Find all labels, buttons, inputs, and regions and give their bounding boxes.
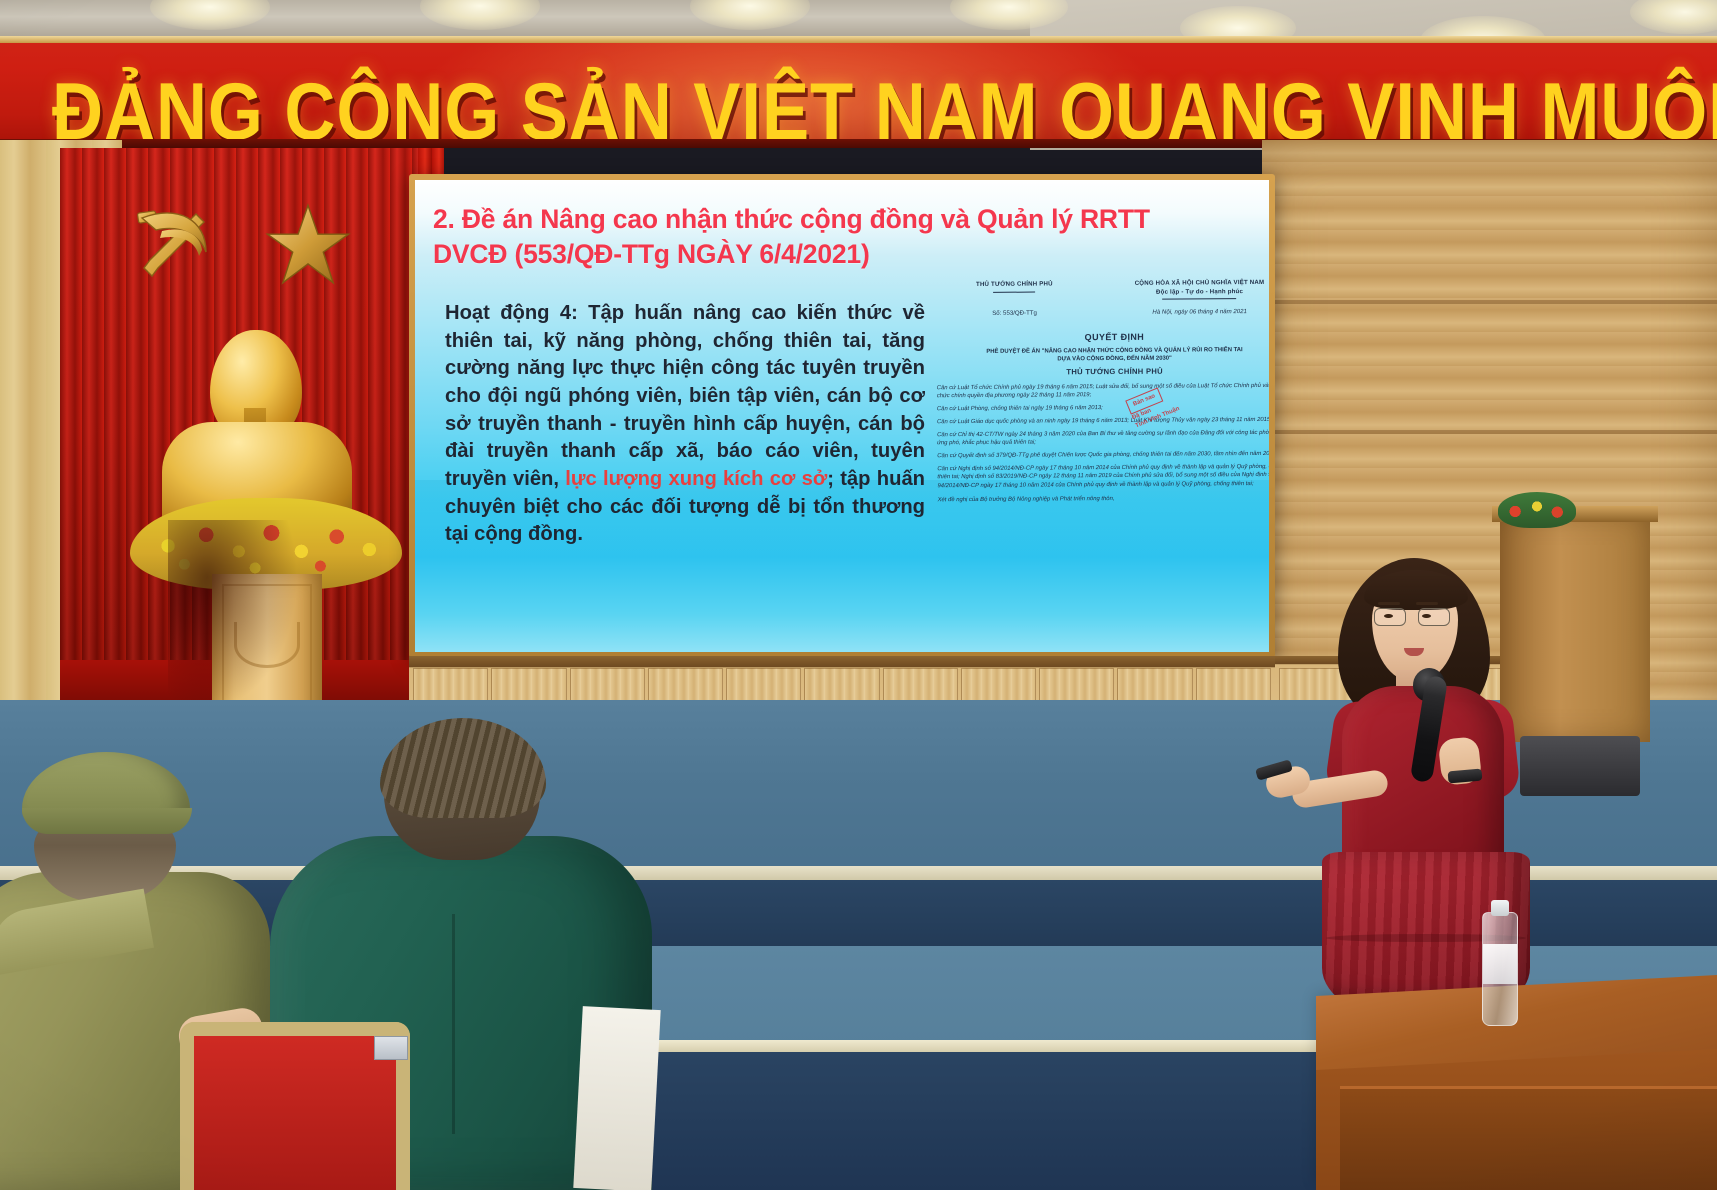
doc-header-row: THỦ TƯỚNG CHÍNH PHỦ CỘNG HÒA XÃ HỘI CHỦ … — [936, 279, 1269, 304]
presenter-brow-right — [1416, 602, 1438, 605]
slide-body-text: Hoạt động 4: Tập huấn nâng cao kiến thức… — [445, 300, 925, 549]
doc-basis-3: Căn cứ Luật Giáo dục quốc phòng và an ni… — [937, 416, 1269, 427]
slide-title: 2. Đề án Nâng cao nhận thức cộng đồng và… — [433, 202, 1269, 272]
conference-hall-photo: ĐẢNG CỘNG SẢN VIỆT NAM QUANG VINH MUÔN N… — [0, 0, 1717, 1190]
doc-number: Số: 553/QĐ-TTg — [936, 309, 1093, 319]
military-cap-band — [22, 808, 192, 834]
doc-national-rule — [1163, 298, 1237, 300]
audience-2-jacket-seam — [452, 914, 455, 1134]
doc-authority: THỦ TƯỚNG CHÍNH PHỦ — [937, 366, 1269, 379]
doc-basis-6: Căn cứ Nghị định số 94/2014/NĐ-CP ngày 1… — [937, 463, 1269, 491]
doc-type-heading: QUYẾT ĐỊNH — [936, 330, 1269, 345]
banner-gold-trim — [0, 36, 1717, 43]
slide-canvas: 2. Đề án Nâng cao nhận thức cộng đồng và… — [415, 180, 1269, 652]
doc-place-date: Hà Nội, ngày 06 tháng 4 năm 2021 — [1107, 308, 1269, 318]
lectern-flower-arrangement — [1498, 492, 1576, 528]
wall-seam-2 — [1262, 430, 1717, 434]
slide-title-line-2: DVCĐ (553/QĐ-TTg NGÀY 6/4/2021) — [433, 237, 1269, 272]
bottle-label — [1483, 944, 1517, 984]
doc-basis-2: Căn cứ Luật Phòng, chống thiên tai ngày … — [937, 403, 1269, 414]
doc-issuer: THỦ TƯỚNG CHÍNH PHỦ — [936, 280, 1093, 290]
doc-basis-4: Căn cứ Chỉ thị 42-CT/TW ngày 24 tháng 3 … — [937, 428, 1269, 447]
handout-papers — [573, 1006, 660, 1190]
five-pointed-star-icon — [262, 200, 354, 290]
doc-national-line-2: Độc lập - Tự do - Hạnh phúc — [1107, 287, 1269, 297]
doc-number-row: Số: 553/QĐ-TTg Hà Nội, ngày 06 tháng 4 n… — [936, 308, 1269, 319]
presenter-eye-left — [1384, 614, 1393, 618]
doc-national-header: CỘNG HÒA XÃ HỘI CHỦ NGHĨA VIỆT NAM Độc l… — [1107, 279, 1269, 303]
presentation-screen[interactable]: 2. Đề án Nâng cao nhận thức cộng đồng và… — [409, 174, 1275, 658]
doc-issuer-block: THỦ TƯỚNG CHÍNH PHỦ — [936, 280, 1093, 303]
slide-title-line-1: 2. Đề án Nâng cao nhận thức cộng đồng và… — [433, 202, 1269, 237]
bottle-cap — [1491, 900, 1509, 916]
chair-label-tag — [374, 1036, 408, 1060]
banner-slogan-text: ĐẢNG CỘNG SẢN VIỆT NAM QUANG VINH MUÔN N… — [52, 66, 1689, 148]
water-bottle-icon — [1482, 898, 1518, 1026]
doc-basis-5: Căn cứ Quyết định số 379/QĐ-TTg phê duyệ… — [937, 450, 1269, 461]
decision-document-scan: THỦ TƯỚNG CHÍNH PHỦ CỘNG HÒA XÃ HỘI CHỦ … — [936, 279, 1269, 561]
audience-2-hair — [380, 718, 546, 818]
wall-seam-1 — [1262, 300, 1717, 304]
presenter-brow-left — [1378, 602, 1400, 605]
hammer-and-sickle-icon — [122, 190, 230, 290]
front-table-apron — [1340, 1086, 1717, 1190]
slide-body-part-1: Hoạt động 4: Tập huấn nâng cao kiến thức… — [445, 302, 925, 490]
doc-basis-1: Căn cứ Luật Tổ chức Chính phủ ngày 19 th… — [937, 381, 1269, 400]
doc-basis-7: Xét đề nghị của Bộ trưởng Bộ Nông nghiệp… — [938, 494, 1269, 505]
doc-national-line-1: CỘNG HÒA XÃ HỘI CHỦ NGHĨA VIỆT NAM — [1107, 279, 1269, 289]
doc-issuer-rule — [993, 291, 1035, 292]
hall-banner: ĐẢNG CỘNG SẢN VIỆT NAM QUANG VINH MUÔN N… — [0, 36, 1717, 148]
slide-body-highlight: lực lượng xung kích cơ sở — [565, 468, 827, 490]
presenter-eye-right — [1422, 614, 1431, 618]
pedestal-shadow — [168, 520, 298, 710]
